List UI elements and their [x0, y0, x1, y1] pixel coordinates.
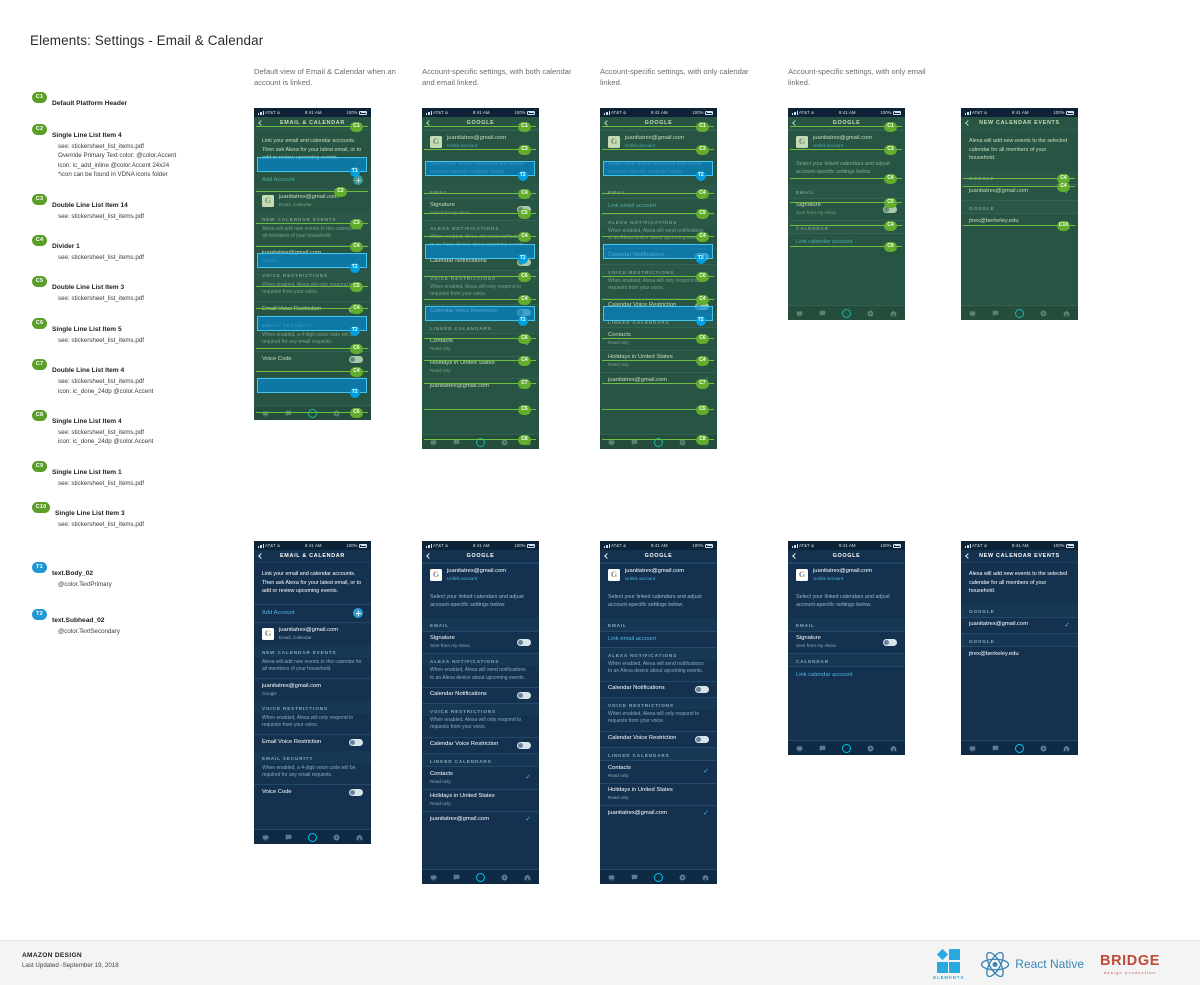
- battery-percent-label: 100%: [692, 543, 703, 548]
- account-email: juanitatrex@gmail.com: [813, 135, 872, 143]
- toggle-switch[interactable]: [695, 736, 709, 743]
- account-text: juanitatrex@gmail.comEmail, Calendar: [279, 194, 338, 208]
- phone-mockup-google-email-only: AT&T⍝9:41 AM100%GOOGLEGjuanitatrex@gmail…: [788, 108, 905, 320]
- callout-badge: C5: [518, 209, 531, 219]
- list-item[interactable]: juanitatrex@gmail.comGoogle: [254, 679, 371, 701]
- list-item-label: Contacts: [608, 765, 631, 773]
- section-header: CALENDAR: [788, 654, 905, 667]
- callout-badge: C1: [696, 122, 709, 132]
- alexa-tab[interactable]: [476, 438, 485, 447]
- list-item-label: Calendar Notifications: [430, 691, 487, 699]
- legend-item-note: see: stickersheet_list_items.pdf: [58, 294, 242, 303]
- list-item-text: Calendar Voice Restriction: [430, 308, 498, 316]
- account-content: Gjuanitatrex@gmail.comEmail, Calendar: [262, 627, 363, 641]
- list-item[interactable]: Voice Code: [254, 352, 371, 368]
- unlink-account-link[interactable]: Unlink account: [625, 576, 684, 582]
- legend-item-title: Double Line List Item 4: [52, 365, 124, 376]
- list-item-content: Holidays in United StatesRead only: [430, 793, 531, 807]
- list-item-sublabel: Read only: [608, 795, 673, 801]
- communicate-tab[interactable]: [453, 874, 460, 881]
- section-header: LINKED CALENDARS: [600, 748, 717, 761]
- play-tab[interactable]: [501, 439, 508, 446]
- footer-credits: AMAZON DESIGN Last Updated -September 19…: [22, 952, 119, 969]
- list-item-content: juanitatrex@gmail.com: [608, 810, 699, 818]
- play-tab[interactable]: [679, 439, 686, 446]
- home-tab[interactable]: [430, 439, 437, 446]
- devices-tab[interactable]: [524, 874, 531, 881]
- checkmark-icon: ✓: [1064, 622, 1070, 629]
- tab-bar: [961, 740, 1078, 755]
- communicate-tab[interactable]: [992, 745, 999, 752]
- tab-bar: [961, 305, 1078, 320]
- unlink-account-link[interactable]: Unlink account: [447, 576, 506, 582]
- list-item[interactable]: Calendar Notifications: [600, 681, 717, 697]
- section-header: EMAIL: [788, 618, 905, 631]
- play-tab[interactable]: [1040, 745, 1047, 752]
- callout-badge: T2: [518, 254, 528, 264]
- list-item-content: Link calendar account: [796, 239, 897, 245]
- communicate-tab[interactable]: [631, 439, 638, 446]
- section-header: ALEXA NOTIFICATIONS: [600, 648, 717, 661]
- legend-item-note: Override Primary Text color: @color.Acce…: [58, 151, 242, 160]
- callout-badge: T2: [350, 326, 360, 336]
- legend-item-note: @color.TextPrimary: [58, 580, 242, 589]
- list-item-text: Calendar Notifications: [430, 258, 487, 266]
- callout-badge: C4: [884, 174, 897, 184]
- play-tab[interactable]: [333, 410, 340, 417]
- battery-icon: [527, 544, 535, 548]
- play-tab[interactable]: [867, 745, 874, 752]
- account-row[interactable]: Gjuanitatrex@gmail.comUnlink account: [788, 564, 905, 586]
- add-account-label: Add Account: [262, 610, 295, 616]
- list-item-label: jtrex@berkeley.edu: [969, 218, 1019, 226]
- legend-item-title: text.Subhead_02: [52, 615, 104, 626]
- list-item[interactable]: juanitatrex@gmail.com✓: [422, 812, 539, 828]
- toggle-switch[interactable]: [695, 686, 709, 693]
- list-item-content: Link calendar account: [796, 672, 897, 678]
- home-tab[interactable]: [430, 874, 437, 881]
- clock-label: 9:41 AM: [814, 110, 880, 115]
- list-item-sublabel: Read only: [430, 368, 495, 374]
- home-tab[interactable]: [796, 310, 803, 317]
- page-title: Elements: Settings - Email & Calendar: [30, 33, 263, 48]
- clock-label: 9:41 AM: [987, 110, 1053, 115]
- clock-label: 9:41 AM: [987, 543, 1053, 548]
- list-item-content: Voice Code: [262, 356, 345, 364]
- list-item-text: Voice Code: [262, 789, 292, 797]
- carrier-label: AT&T: [799, 543, 810, 548]
- caption-3: Account-specific settings, with only cal…: [600, 66, 750, 88]
- account-services: Email, Calendar: [279, 202, 338, 208]
- account-content: Gjuanitatrex@gmail.comUnlink account: [608, 135, 709, 149]
- google-logo-icon: G: [430, 136, 442, 148]
- list-item-text: ContactsRead only: [608, 332, 631, 346]
- callout-badge: C10: [1057, 221, 1070, 231]
- status-bar: AT&T⍝9:41 AM100%: [600, 108, 717, 117]
- legend-item-note: icon: ic_add_inline @color.Accent 24x24: [58, 161, 242, 170]
- callout-badge: C3: [518, 145, 531, 155]
- status-right: 100%: [1053, 543, 1074, 548]
- status-right: 100%: [514, 543, 535, 548]
- communicate-tab[interactable]: [819, 745, 826, 752]
- clock-label: 9:41 AM: [626, 543, 692, 548]
- legend-badge: C3: [32, 194, 47, 205]
- list-item-label: Calendar Voice Restriction: [430, 308, 498, 316]
- account-email: juanitatrex@gmail.com: [625, 568, 684, 576]
- toggle-switch[interactable]: [349, 356, 363, 363]
- list-item-content: juanitatrex@gmail.comGoogle: [262, 250, 363, 264]
- signal-icon: [965, 111, 971, 115]
- callout-badge: C3: [884, 145, 897, 155]
- list-item[interactable]: juanitatrex@gmail.com✓: [600, 806, 717, 822]
- callout-badge: T2: [696, 254, 706, 264]
- callout-badge: C6: [518, 334, 531, 344]
- status-bar: AT&T⍝9:41 AM100%: [961, 108, 1078, 117]
- devices-tab[interactable]: [890, 745, 897, 752]
- screen-blurb: Alexa will add new events to the selecte…: [961, 130, 1078, 171]
- list-item-link[interactable]: Link email account: [608, 636, 656, 642]
- google-logo-icon: G: [796, 569, 808, 581]
- alexa-tab[interactable]: [842, 309, 851, 318]
- list-item-text: Calendar Voice Restriction: [608, 302, 676, 310]
- legend-badge: C10: [32, 502, 50, 513]
- add-account-row[interactable]: Add Account: [254, 604, 371, 622]
- toggle-switch[interactable]: [517, 742, 531, 749]
- account-email: juanitatrex@gmail.com: [813, 568, 872, 576]
- callout-badge: C6: [518, 272, 531, 282]
- battery-icon: [527, 111, 535, 115]
- list-item-text: ContactsRead only: [608, 765, 631, 779]
- battery-icon: [359, 544, 367, 548]
- alexa-tab[interactable]: [476, 873, 485, 882]
- legend-item: C3Double Line List Item 14see: stickersh…: [32, 194, 242, 221]
- list-item-label: Calendar Voice Restriction: [608, 302, 676, 310]
- account-email: juanitatrex@gmail.com: [625, 135, 684, 143]
- unlink-account-link[interactable]: Unlink account: [625, 143, 684, 149]
- callout-badge: C4: [696, 295, 709, 305]
- callout-badge: C6: [350, 408, 363, 418]
- account-text: juanitatrex@gmail.comUnlink account: [813, 135, 872, 149]
- list-item-text: Email Voice Restriction: [262, 306, 321, 314]
- screen-blurb: Select your linked calendars and adjust …: [788, 586, 905, 618]
- section-description: When enabled, a 4-digit voice code will …: [254, 764, 371, 784]
- home-tab[interactable]: [262, 410, 269, 417]
- carrier-label: AT&T: [265, 110, 276, 115]
- play-tab[interactable]: [501, 874, 508, 881]
- legend-item-note: see: stickersheet_list_items.pdf: [58, 520, 242, 529]
- legend-badge: C9: [32, 461, 47, 472]
- list-item[interactable]: SignatureSent from my Alexa: [422, 631, 539, 653]
- alexa-tab[interactable]: [842, 744, 851, 753]
- status-left: AT&T⍝: [426, 543, 448, 548]
- legend-badge: C1: [32, 92, 47, 103]
- list-item[interactable]: juanitatrex@gmail.com✓: [961, 617, 1078, 633]
- toggle-switch[interactable]: [517, 309, 531, 316]
- list-item-link[interactable]: Link email account: [608, 203, 656, 209]
- communicate-tab[interactable]: [285, 834, 292, 841]
- list-item[interactable]: Calendar Notifications: [422, 687, 539, 703]
- list-item-text: Holidays in United StatesRead only: [430, 793, 495, 807]
- section-header: GOOGLE: [961, 634, 1078, 647]
- list-item[interactable]: jtrex@berkeley.edu: [961, 647, 1078, 663]
- toggle-switch[interactable]: [883, 639, 897, 646]
- signal-icon: [604, 111, 610, 115]
- phone-mockup-email-calendar: AT&T⍝9:41 AM100%EMAIL & CALENDARLink you…: [254, 541, 371, 844]
- legend-item-note: *icon can be found in VDNA icons folder: [58, 170, 242, 179]
- legend-item-title: Divider 1: [52, 241, 80, 252]
- status-right: 100%: [692, 543, 713, 548]
- list-item[interactable]: Voice Code: [254, 785, 371, 801]
- callout-badge: T2: [518, 171, 528, 181]
- list-item-text: Calendar Voice Restriction: [430, 741, 498, 749]
- account-row[interactable]: Gjuanitatrex@gmail.comUnlink account: [600, 564, 717, 586]
- list-item-content: juanitatrex@gmail.comGoogle: [262, 683, 363, 697]
- battery-percent-label: 100%: [346, 543, 357, 548]
- callout-badge: C4: [350, 242, 363, 252]
- phone-mockup-new-calendar-events: AT&T⍝9:41 AM100%NEW CALENDAR EVENTSAlexa…: [961, 108, 1078, 320]
- callout-badge: T2: [350, 388, 360, 398]
- battery-icon: [893, 111, 901, 115]
- status-right: 100%: [880, 110, 901, 115]
- callout-badge: C4: [518, 189, 531, 199]
- list-item-label: Calendar Notifications: [608, 252, 665, 260]
- toggle-switch[interactable]: [517, 639, 531, 646]
- tab-bar: [254, 829, 371, 844]
- list-item[interactable]: SignatureSent from my Alexa: [788, 631, 905, 653]
- list-item-sublabel: Read only: [430, 801, 495, 807]
- list-item-label: juanitatrex@gmail.com: [430, 816, 489, 824]
- list-item-sublabel: Sent from my Alexa: [796, 210, 836, 216]
- list-item-label: Email Voice Restriction: [262, 739, 321, 747]
- home-tab[interactable]: [608, 439, 615, 446]
- carrier-label: AT&T: [799, 110, 810, 115]
- home-tab[interactable]: [262, 834, 269, 841]
- legend-item: C1Default Platform Header: [32, 92, 242, 110]
- list-item-text: Holidays in United StatesRead only: [430, 360, 495, 374]
- add-icon[interactable]: [353, 175, 363, 185]
- add-account-content: Add Account: [262, 177, 349, 183]
- play-tab[interactable]: [333, 834, 340, 841]
- toggle-switch[interactable]: [349, 739, 363, 746]
- square-icon: [949, 962, 960, 973]
- elements-logo-label: ELEMENTS: [933, 975, 964, 980]
- account-text: juanitatrex@gmail.comUnlink account: [625, 135, 684, 149]
- account-text: juanitatrex@gmail.comUnlink account: [447, 568, 506, 582]
- list-item[interactable]: Email Voice Restriction: [254, 735, 371, 751]
- battery-percent-label: 100%: [1053, 110, 1064, 115]
- callout-badge: T2: [696, 171, 706, 181]
- alexa-tab[interactable]: [654, 873, 663, 882]
- account-text: juanitatrex@gmail.comUnlink account: [813, 568, 872, 582]
- play-tab[interactable]: [867, 310, 874, 317]
- account-row[interactable]: Gjuanitatrex@gmail.comEmail, Calendar: [254, 623, 371, 645]
- play-tab[interactable]: [679, 874, 686, 881]
- footer-brand: AMAZON DESIGN: [22, 952, 119, 959]
- list-item-text: Calendar Voice Restriction: [608, 735, 676, 743]
- list-item[interactable]: Link email account: [600, 631, 717, 647]
- callout-badge: C3: [696, 145, 709, 155]
- toggle-switch[interactable]: [349, 789, 363, 796]
- list-item[interactable]: Holidays in United StatesRead only: [600, 783, 717, 805]
- devices-tab[interactable]: [1063, 310, 1070, 317]
- list-item-sublabel: Sent from my Alexa: [430, 210, 470, 216]
- section-header: GOOGLE: [961, 604, 1078, 617]
- carrier-label: AT&T: [972, 110, 983, 115]
- unlink-account-link[interactable]: Unlink account: [447, 143, 506, 149]
- alexa-tab[interactable]: [1015, 309, 1024, 318]
- list-item[interactable]: ContactsRead only✓: [600, 761, 717, 783]
- phone-mockup-google-calendar-only: AT&T⍝9:41 AM100%GOOGLEGjuanitatrex@gmail…: [600, 108, 717, 449]
- react-native-label: React Native: [1015, 957, 1084, 971]
- legend-item-note: see: stickersheet_list_items.pdf: [58, 212, 242, 221]
- legend-badge: C7: [32, 359, 47, 370]
- play-tab[interactable]: [1040, 310, 1047, 317]
- list-item-content: Link email account: [608, 636, 709, 642]
- clock-label: 9:41 AM: [448, 543, 514, 548]
- callout-badge: C4: [518, 232, 531, 242]
- carrier-label: AT&T: [265, 543, 276, 548]
- home-tab[interactable]: [796, 745, 803, 752]
- list-item-label: Calendar Voice Restriction: [608, 735, 676, 743]
- section-header: EMAIL: [788, 185, 905, 198]
- legend-item-title: Double Line List Item 3: [52, 282, 124, 293]
- list-item-text: SignatureSent from my Alexa: [796, 202, 836, 216]
- status-right: 100%: [346, 543, 367, 548]
- callout-badge: T2: [518, 316, 528, 326]
- status-left: AT&T⍝: [258, 543, 280, 548]
- checkmark-icon: ✓: [525, 774, 531, 781]
- list-item[interactable]: Calendar Voice Restriction: [600, 731, 717, 747]
- home-tab[interactable]: [969, 745, 976, 752]
- signal-icon: [792, 544, 798, 548]
- phone-mockup-google-calendar-only: AT&T⍝9:41 AM100%GOOGLEGjuanitatrex@gmail…: [600, 541, 717, 884]
- screen-blurb: Alexa will add new events to the selecte…: [961, 563, 1078, 604]
- section-header: NEW CALENDAR EVENTS: [254, 645, 371, 658]
- battery-percent-label: 100%: [514, 543, 525, 548]
- phone-mockup-new-calendar-events: AT&T⍝9:41 AM100%NEW CALENDAR EVENTSAlexa…: [961, 541, 1078, 755]
- tab-bar: [600, 869, 717, 884]
- list-item[interactable]: Holidays in United StatesRead only: [422, 789, 539, 811]
- list-item-label: Contacts: [430, 338, 453, 346]
- nav-bar: NEW CALENDAR EVENTS: [961, 117, 1078, 130]
- list-item-content: Calendar Voice Restriction: [608, 302, 691, 310]
- unlink-account-link[interactable]: Unlink account: [813, 576, 872, 582]
- battery-percent-label: 100%: [880, 543, 891, 548]
- callout-badge: T2: [696, 316, 706, 326]
- communicate-tab[interactable]: [631, 874, 638, 881]
- account-content: Gjuanitatrex@gmail.comUnlink account: [430, 135, 531, 149]
- callout-badge: C4: [350, 367, 363, 377]
- phone-mockup-google-email-only: AT&T⍝9:41 AM100%GOOGLEGjuanitatrex@gmail…: [788, 541, 905, 755]
- carrier-label: AT&T: [972, 543, 983, 548]
- nav-bar: EMAIL & CALENDAR: [254, 550, 371, 563]
- list-item-label: Signature: [796, 202, 836, 210]
- account-row[interactable]: Gjuanitatrex@gmail.comEmail, Calendar: [254, 190, 371, 212]
- list-item-link[interactable]: Link calendar account: [796, 239, 852, 245]
- google-logo-icon: G: [608, 569, 620, 581]
- add-icon[interactable]: [353, 608, 363, 618]
- communicate-tab[interactable]: [992, 310, 999, 317]
- signal-icon: [604, 544, 610, 548]
- callout-badge: C1: [884, 122, 897, 132]
- add-account-content: Add Account: [262, 610, 349, 616]
- legend-item: C9Single Line List Item 1see: stickershe…: [32, 461, 242, 488]
- communicate-tab[interactable]: [285, 410, 292, 417]
- status-right: 100%: [880, 543, 901, 548]
- list-item-text: juanitatrex@gmail.comGoogle: [262, 683, 321, 697]
- callout-badge: C7: [696, 379, 709, 389]
- list-item[interactable]: Calendar Voice Restriction: [422, 737, 539, 753]
- battery-percent-label: 100%: [346, 110, 357, 115]
- list-item[interactable]: Link calendar account: [788, 667, 905, 683]
- list-item-label: juanitatrex@gmail.com: [969, 188, 1028, 196]
- legend-panel: C1Default Platform HeaderC2Single Line L…: [32, 92, 242, 657]
- list-item-label: juanitatrex@gmail.com: [430, 383, 489, 391]
- nav-bar: GOOGLE: [600, 550, 717, 563]
- checkmark-icon: ✓: [703, 768, 709, 775]
- devices-tab[interactable]: [1063, 745, 1070, 752]
- carrier-label: AT&T: [433, 110, 444, 115]
- bridge-logo-tagline: design production: [1104, 970, 1156, 975]
- list-item-label: Holidays in United States: [430, 793, 495, 801]
- home-tab[interactable]: [969, 310, 976, 317]
- devices-tab[interactable]: [356, 834, 363, 841]
- tab-bar: [788, 305, 905, 320]
- communicate-tab[interactable]: [453, 439, 460, 446]
- communicate-tab[interactable]: [819, 310, 826, 317]
- alexa-tab[interactable]: [308, 833, 317, 842]
- list-item-label: Calendar Notifications: [430, 258, 487, 266]
- callout-badge: C4: [1057, 182, 1070, 192]
- status-left: AT&T⍝: [792, 110, 814, 115]
- list-item-content: jtrex@berkeley.edu: [969, 218, 1070, 226]
- status-right: 100%: [1053, 110, 1074, 115]
- battery-icon: [1066, 111, 1074, 115]
- home-tab[interactable]: [608, 874, 615, 881]
- status-right: 100%: [692, 110, 713, 115]
- toggle-switch[interactable]: [517, 692, 531, 699]
- nav-bar: NEW CALENDAR EVENTS: [961, 550, 1078, 563]
- legend-badge: C2: [32, 124, 47, 135]
- battery-percent-label: 100%: [514, 110, 525, 115]
- devices-tab[interactable]: [890, 310, 897, 317]
- alexa-tab[interactable]: [308, 409, 317, 418]
- status-left: AT&T⍝: [965, 110, 987, 115]
- callout-badge: C8: [518, 435, 531, 445]
- account-text: juanitatrex@gmail.comUnlink account: [447, 135, 506, 149]
- list-item-label: juanitatrex@gmail.com: [608, 377, 667, 385]
- devices-tab[interactable]: [702, 874, 709, 881]
- list-item-text: juanitatrex@gmail.com: [608, 810, 667, 818]
- account-services: Email, Calendar: [279, 635, 338, 641]
- list-item[interactable]: ContactsRead only✓: [422, 767, 539, 789]
- status-right: 100%: [346, 110, 367, 115]
- unlink-account-link[interactable]: Unlink account: [813, 143, 872, 149]
- list-item-sublabel: Sent from my Alexa: [430, 643, 470, 649]
- legend-item-title: Single Line List Item 5: [52, 324, 122, 335]
- status-bar: AT&T⍝9:41 AM100%: [422, 108, 539, 117]
- signal-icon: [792, 111, 798, 115]
- list-item-link[interactable]: Link calendar account: [796, 672, 852, 678]
- nav-bar: GOOGLE: [422, 550, 539, 563]
- section-header: VOICE RESTRICTIONS: [600, 698, 717, 711]
- alexa-tab[interactable]: [1015, 744, 1024, 753]
- list-item-label: Holidays in United States: [608, 787, 673, 795]
- legend-item-note: icon: ic_done_24dp @color.Accent: [58, 437, 242, 446]
- clock-label: 9:41 AM: [280, 110, 346, 115]
- alexa-tab[interactable]: [654, 438, 663, 447]
- account-row[interactable]: Gjuanitatrex@gmail.comUnlink account: [422, 564, 539, 586]
